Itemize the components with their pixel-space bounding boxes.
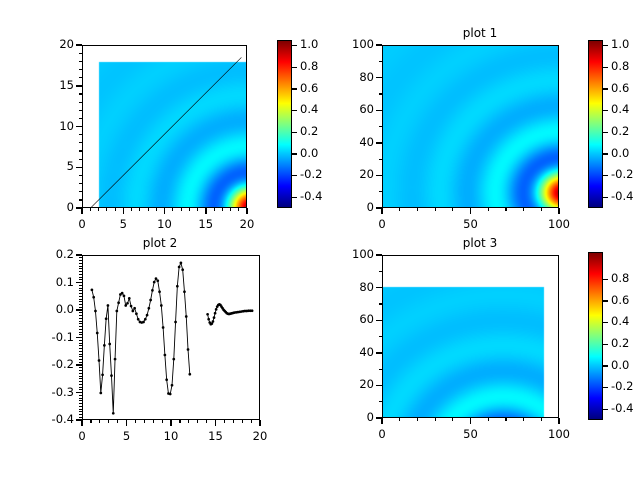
y-minor-tick (79, 93, 82, 94)
figure-canvas: 05101520051015201.00.80.60.40.20.0-0.2-0… (0, 0, 640, 480)
y-major-tick (76, 207, 82, 208)
data-point (130, 305, 133, 308)
y-tick-label: -0.1 (26, 330, 74, 344)
colorbar-top-right (588, 40, 603, 208)
x-major-tick (126, 420, 127, 426)
colorbar-tick (603, 387, 608, 388)
y-minor-tick (79, 403, 82, 404)
x-minor-tick (222, 208, 223, 211)
y-minor-tick (79, 150, 82, 151)
y-tick-label: 40 (326, 135, 374, 149)
axes-bottom-left (82, 255, 260, 420)
x-minor-tick (541, 418, 542, 421)
y-tick-label: 60 (326, 102, 374, 116)
colorbar-tick (603, 197, 608, 198)
x-tick-label: 5 (101, 217, 145, 231)
x-tick-label: 10 (149, 429, 193, 443)
x-minor-tick (417, 418, 418, 421)
colorbar-tick (603, 153, 608, 154)
colorbar-tick (292, 88, 297, 89)
data-point (165, 378, 168, 381)
line-series-bottom-left (83, 256, 260, 420)
colorbar-tick-label: 0.4 (611, 102, 629, 116)
data-point (153, 281, 156, 284)
x-minor-tick (505, 208, 506, 211)
x-minor-tick (233, 420, 234, 423)
data-point (94, 310, 97, 313)
y-minor-tick (79, 110, 82, 111)
heatmap-image-bottom-right (383, 256, 559, 418)
x-minor-tick (224, 420, 225, 423)
data-point (103, 344, 106, 347)
x-tick-label: 100 (537, 217, 581, 231)
y-minor-tick (379, 303, 382, 304)
colorbar-tick (603, 344, 608, 345)
y-tick-label: 20 (326, 167, 374, 181)
x-tick-label: 50 (449, 427, 493, 441)
x-minor-tick (135, 420, 136, 423)
x-minor-tick (197, 420, 198, 423)
colorbar-bottom-right (588, 252, 603, 420)
y-minor-tick (79, 274, 82, 275)
x-tick-label: 20 (225, 217, 269, 231)
colorbar-tick (292, 110, 297, 111)
data-point (180, 262, 183, 265)
colorbar-tick (603, 132, 608, 133)
y-major-tick (76, 85, 82, 86)
y-major-tick (376, 207, 382, 208)
data-point (114, 358, 117, 361)
data-point (101, 373, 104, 376)
y-major-tick (76, 44, 82, 45)
y-minor-tick (79, 102, 82, 103)
y-minor-tick (79, 260, 82, 261)
y-tick-label: 20 (26, 37, 74, 51)
colorbar-tick (292, 67, 297, 68)
y-minor-tick (79, 326, 82, 327)
x-minor-tick (90, 420, 91, 423)
x-minor-tick (162, 420, 163, 423)
x-minor-tick (505, 418, 506, 421)
data-point (151, 289, 154, 292)
y-tick-label: 0.2 (26, 247, 74, 261)
y-minor-tick (79, 53, 82, 54)
x-minor-tick (139, 208, 140, 211)
colorbar-tick (603, 300, 608, 301)
line-path (92, 263, 190, 413)
y-minor-tick (79, 384, 82, 385)
data-point (148, 307, 151, 310)
y-tick-label: 5 (26, 159, 74, 173)
y-major-tick (376, 352, 382, 353)
y-major-tick (376, 142, 382, 143)
data-point (214, 312, 217, 315)
y-minor-tick (79, 376, 82, 377)
x-minor-tick (117, 420, 118, 423)
data-point (183, 290, 186, 293)
x-major-tick (170, 420, 171, 426)
data-point (117, 301, 120, 304)
data-point (112, 412, 115, 415)
y-minor-tick (79, 266, 82, 267)
y-minor-tick (379, 159, 382, 160)
y-tick-label: 0 (326, 410, 374, 424)
x-major-tick (81, 420, 82, 426)
y-minor-tick (79, 395, 82, 396)
data-point (215, 308, 218, 311)
x-minor-tick (188, 420, 189, 423)
data-point (156, 279, 159, 282)
colorbar-tick-label: 0.2 (300, 124, 318, 138)
x-tick-label: 5 (105, 429, 149, 443)
axes-top-left (82, 45, 247, 208)
subplot-bottom-left: plot 2 051015200.20.10.0-0.1-0.2-0.3-0.4 (0, 240, 320, 480)
data-point (174, 321, 177, 324)
colorbar-tick-label: 1.0 (611, 37, 629, 51)
y-minor-tick (79, 351, 82, 352)
data-point (158, 290, 161, 293)
data-point (131, 310, 134, 313)
y-minor-tick (79, 409, 82, 410)
data-point (164, 354, 167, 357)
colorbar-tick (603, 67, 608, 68)
x-minor-tick (488, 418, 489, 421)
y-minor-tick (79, 321, 82, 322)
x-minor-tick (523, 208, 524, 211)
y-minor-tick (79, 288, 82, 289)
data-point (142, 321, 145, 324)
x-minor-tick (523, 418, 524, 421)
y-minor-tick (79, 142, 82, 143)
y-minor-tick (79, 299, 82, 300)
x-tick-label: 50 (449, 217, 493, 231)
colorbar-tick (603, 409, 608, 410)
y-major-tick (376, 77, 382, 78)
data-point (123, 295, 126, 298)
colorbar-tick-label: 0.0 (611, 358, 629, 372)
y-minor-tick (79, 315, 82, 316)
data-point (133, 307, 136, 310)
x-tick-label: 0 (60, 217, 104, 231)
data-point (155, 277, 158, 280)
y-minor-tick (79, 304, 82, 305)
y-minor-tick (79, 417, 82, 418)
data-point (171, 384, 174, 387)
y-major-tick (376, 175, 382, 176)
data-point (99, 392, 102, 395)
data-point (213, 316, 216, 319)
x-major-tick (259, 420, 260, 426)
x-minor-tick (98, 208, 99, 211)
x-minor-tick (144, 420, 145, 423)
colorbar-tick-label: 0.0 (300, 146, 318, 160)
y-minor-tick (79, 329, 82, 330)
data-point (251, 309, 254, 312)
y-minor-tick (79, 387, 82, 388)
x-major-tick (470, 418, 471, 424)
data-point (187, 348, 190, 351)
y-major-tick (76, 282, 82, 283)
data-point (160, 304, 163, 307)
data-point (121, 292, 124, 295)
data-point (96, 332, 99, 335)
data-point (212, 320, 215, 323)
y-minor-tick (79, 378, 82, 379)
x-minor-tick (179, 420, 180, 423)
y-minor-tick (379, 271, 382, 272)
x-major-tick (205, 208, 206, 214)
y-minor-tick (79, 159, 82, 160)
colorbar-tick (292, 153, 297, 154)
x-minor-tick (452, 418, 453, 421)
x-minor-tick (399, 208, 400, 211)
x-minor-tick (172, 208, 173, 211)
data-point (169, 393, 172, 396)
x-tick-label: 0 (360, 427, 404, 441)
y-tick-label: -0.4 (26, 412, 74, 426)
data-point (128, 297, 131, 300)
y-tick-label: 80 (326, 280, 374, 294)
x-minor-tick (181, 208, 182, 211)
x-tick-label: 0 (60, 429, 104, 443)
y-minor-tick (79, 356, 82, 357)
x-minor-tick (115, 208, 116, 211)
x-minor-tick (90, 208, 91, 211)
x-minor-tick (399, 418, 400, 421)
y-minor-tick (79, 373, 82, 374)
y-minor-tick (379, 336, 382, 337)
y-minor-tick (79, 301, 82, 302)
y-minor-tick (79, 398, 82, 399)
colorbar-tick-label: 0.0 (611, 146, 629, 160)
colorbar-tick (603, 45, 608, 46)
x-minor-tick (156, 208, 157, 211)
y-minor-tick (79, 77, 82, 78)
data-point (110, 374, 113, 377)
y-major-tick (76, 126, 82, 127)
colorbar-tick (292, 45, 297, 46)
colorbar-tick-label: 0.4 (611, 314, 629, 328)
x-minor-tick (435, 208, 436, 211)
y-tick-label: 100 (326, 247, 374, 261)
x-minor-tick (206, 420, 207, 423)
y-minor-tick (79, 134, 82, 135)
y-minor-tick (379, 369, 382, 370)
y-minor-tick (79, 263, 82, 264)
data-point (135, 312, 138, 315)
colorbar-tick-label: -0.4 (611, 401, 633, 415)
colorbar-tick-label: -0.2 (611, 379, 633, 393)
colorbar-tick-label: 0.6 (300, 81, 318, 95)
x-minor-tick (230, 208, 231, 211)
data-point (185, 315, 188, 318)
colorbar-tick-label: 1.0 (300, 37, 318, 51)
y-major-tick (376, 385, 382, 386)
y-tick-label: 20 (326, 377, 374, 391)
x-minor-tick (189, 208, 190, 211)
x-minor-tick (452, 208, 453, 211)
colorbar-tick-label: 0.2 (611, 336, 629, 350)
y-tick-label: 10 (26, 119, 74, 133)
colorbar-tick (292, 175, 297, 176)
diagonal-overlay-line-top-left (83, 46, 247, 208)
x-minor-tick (242, 420, 243, 423)
y-minor-tick (79, 290, 82, 291)
y-minor-tick (79, 400, 82, 401)
x-minor-tick (131, 208, 132, 211)
y-minor-tick (79, 257, 82, 258)
y-minor-tick (79, 118, 82, 119)
x-major-tick (558, 418, 559, 424)
y-minor-tick (79, 348, 82, 349)
y-minor-tick (79, 340, 82, 341)
colorbar-tick-label: 0.8 (611, 59, 629, 73)
x-major-tick (164, 208, 165, 214)
y-tick-label: 0.1 (26, 275, 74, 289)
data-point (115, 310, 118, 313)
y-minor-tick (79, 389, 82, 390)
colorbar-tick (603, 365, 608, 366)
y-major-tick (376, 417, 382, 418)
colorbar-tick (603, 110, 608, 111)
y-minor-tick (79, 362, 82, 363)
y-minor-tick (79, 312, 82, 313)
y-minor-tick (79, 411, 82, 412)
y-tick-label: 15 (26, 78, 74, 92)
colorbar-tick-label: 0.8 (300, 59, 318, 73)
x-major-tick (381, 208, 382, 214)
y-major-tick (376, 320, 382, 321)
y-minor-tick (379, 93, 382, 94)
y-major-tick (76, 167, 82, 168)
y-tick-label: -0.2 (26, 357, 74, 371)
x-minor-tick (541, 208, 542, 211)
y-minor-tick (79, 175, 82, 176)
y-minor-tick (79, 61, 82, 62)
y-minor-tick (79, 279, 82, 280)
data-point (149, 299, 152, 302)
x-minor-tick (435, 418, 436, 421)
colorbar-tick-label: -0.4 (611, 189, 633, 203)
data-point (176, 285, 179, 288)
colorbar-tick-label: 0.6 (611, 293, 629, 307)
y-minor-tick (79, 277, 82, 278)
x-minor-tick (106, 208, 107, 211)
x-tick-label: 0 (360, 217, 404, 231)
y-minor-tick (79, 293, 82, 294)
axes-top-right (382, 45, 559, 208)
y-major-tick (376, 110, 382, 111)
y-tick-label: -0.3 (26, 385, 74, 399)
data-point (178, 266, 181, 269)
data-point (172, 358, 175, 361)
data-point (207, 318, 210, 321)
data-point (126, 302, 129, 305)
colorbar-tick (292, 197, 297, 198)
subplot-top-left: 05101520051015201.00.80.60.40.20.0-0.2-0… (0, 0, 320, 240)
y-major-tick (76, 419, 82, 420)
data-point (162, 326, 165, 329)
data-point (137, 318, 140, 321)
axes-bottom-right (382, 255, 559, 418)
colorbar-tick (603, 322, 608, 323)
y-minor-tick (79, 381, 82, 382)
y-major-tick (76, 254, 82, 255)
data-point (146, 314, 149, 317)
colorbar-tick (603, 175, 608, 176)
y-minor-tick (79, 354, 82, 355)
x-tick-label: 20 (238, 429, 282, 443)
y-minor-tick (79, 359, 82, 360)
x-minor-tick (153, 420, 154, 423)
y-minor-tick (79, 323, 82, 324)
y-major-tick (376, 44, 382, 45)
y-tick-label: 80 (326, 70, 374, 84)
data-point (108, 343, 111, 346)
y-tick-label: 0 (26, 200, 74, 214)
x-major-tick (558, 208, 559, 214)
subplot-bottom-right: plot 3 0501000204060801000.80.60.40.20.0… (320, 240, 640, 480)
colorbar-tick-label: 0.6 (611, 81, 629, 95)
x-minor-tick (238, 208, 239, 211)
y-minor-tick (79, 370, 82, 371)
colorbar-tick (292, 132, 297, 133)
y-minor-tick (79, 318, 82, 319)
colorbar-top-left (277, 40, 292, 208)
x-minor-tick (251, 420, 252, 423)
y-tick-label: 0 (326, 200, 374, 214)
y-minor-tick (79, 414, 82, 415)
y-major-tick (76, 337, 82, 338)
x-minor-tick (214, 208, 215, 211)
y-minor-tick (79, 271, 82, 272)
x-minor-tick (99, 420, 100, 423)
data-point (181, 268, 184, 271)
y-minor-tick (79, 69, 82, 70)
x-major-tick (81, 208, 82, 214)
y-minor-tick (79, 406, 82, 407)
y-minor-tick (79, 343, 82, 344)
data-point (105, 317, 108, 320)
y-minor-tick (79, 345, 82, 346)
y-major-tick (76, 309, 82, 310)
y-minor-tick (79, 367, 82, 368)
x-tick-label: 10 (143, 217, 187, 231)
y-major-tick (376, 254, 382, 255)
x-tick-label: 100 (537, 427, 581, 441)
heatmap-image-top-right (383, 46, 559, 208)
data-point (124, 304, 127, 307)
colorbar-tick-label: 0.8 (611, 271, 629, 285)
y-tick-label: 0.0 (26, 302, 74, 316)
colorbar-tick-label: 0.2 (611, 124, 629, 138)
x-major-tick (470, 208, 471, 214)
x-minor-tick (417, 208, 418, 211)
y-major-tick (76, 392, 82, 393)
data-point (188, 373, 191, 376)
y-minor-tick (79, 191, 82, 192)
x-tick-label: 15 (194, 429, 238, 443)
colorbar-tick (603, 88, 608, 89)
y-minor-tick (379, 401, 382, 402)
y-minor-tick (79, 183, 82, 184)
x-minor-tick (488, 208, 489, 211)
y-minor-tick (79, 285, 82, 286)
y-minor-tick (379, 126, 382, 127)
x-tick-label: 15 (184, 217, 228, 231)
y-minor-tick (79, 307, 82, 308)
y-minor-tick (79, 199, 82, 200)
